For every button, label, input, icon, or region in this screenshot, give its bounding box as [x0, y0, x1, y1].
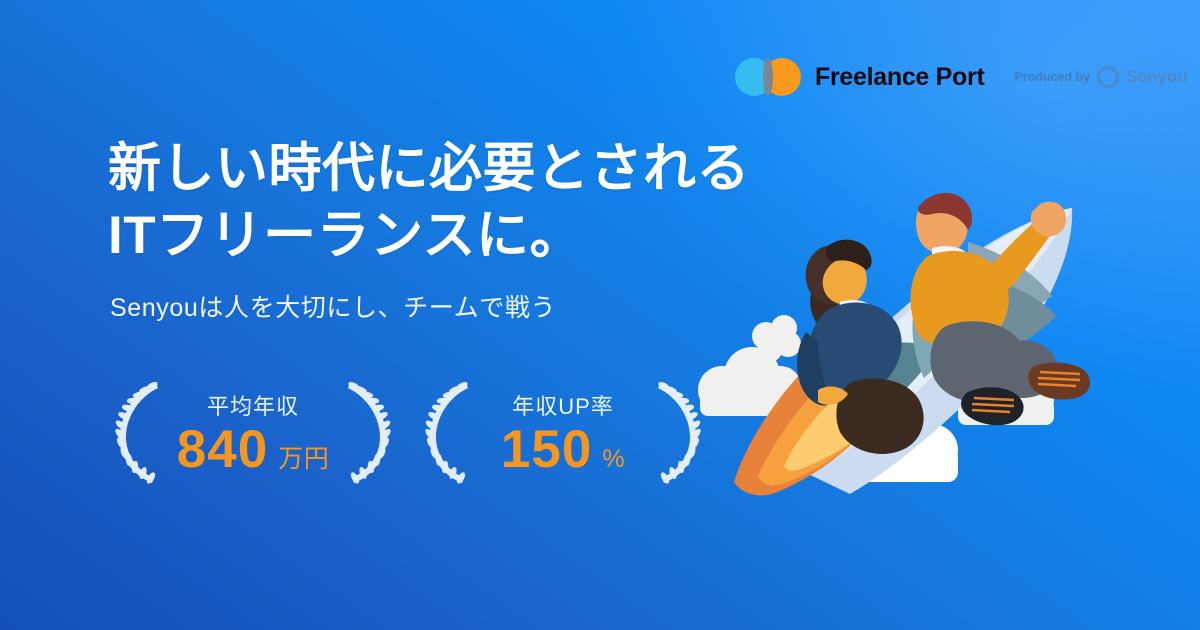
stat-value: 150: [501, 423, 592, 476]
hero-banner: Freelance Port Produced by Senyou 新しい時代に…: [0, 0, 1200, 630]
subtitle-text: Senyouは人を大切にし、チームで戦う: [110, 288, 556, 324]
stat-unit: %: [602, 445, 625, 474]
brand-name: Freelance Port: [815, 63, 984, 92]
produced-by-company: Senyou: [1126, 67, 1187, 87]
stat-label: 年収UP率: [512, 389, 614, 421]
stat-unit: 万円: [278, 439, 329, 475]
produced-by-group: Produced by Senyou: [1014, 66, 1187, 88]
laurel-wreath-left-icon: [112, 377, 164, 487]
laurel-wreath-right-icon: [342, 377, 394, 487]
brand-logo-bar[interactable]: Freelance Port Produced by Senyou: [735, 58, 1188, 96]
logo-circle-overlap: [763, 58, 773, 96]
overlapping-circles-logo-icon: [735, 58, 801, 96]
stat-badge-income-up-rate: 年収UP率 150 %: [418, 373, 708, 491]
laurel-wreath-left-icon: [422, 377, 474, 487]
stats-row: 平均年収 840 万円: [108, 373, 708, 491]
rocket-illustration: [700, 150, 1120, 510]
laurel-wreath-right-icon: [652, 377, 704, 487]
stat-badge-average-income: 平均年収 840 万円: [108, 373, 398, 491]
produced-by-label: Produced by: [1014, 70, 1090, 84]
stat-value: 840: [177, 423, 268, 476]
rocket-with-two-people-icon: [700, 150, 1120, 510]
senyou-ring-icon: [1097, 66, 1119, 88]
stat-label: 平均年収: [207, 389, 299, 421]
